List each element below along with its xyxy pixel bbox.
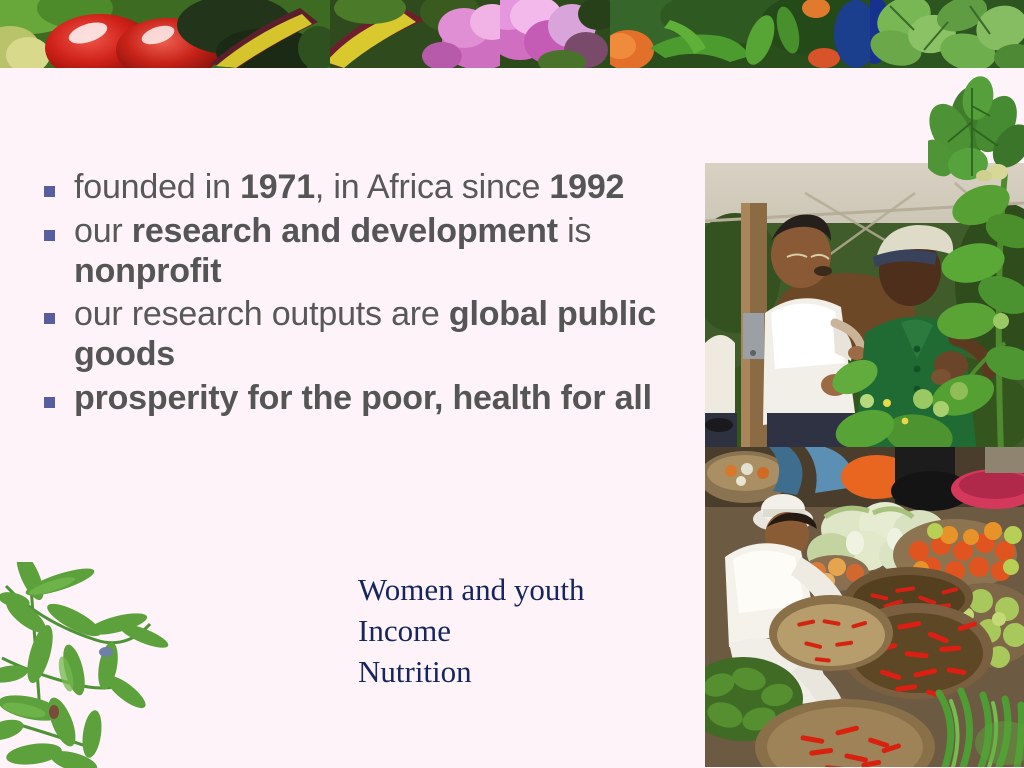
focus-area-line-1: Income: [358, 611, 585, 652]
banner-segment-green-pods: [610, 0, 870, 68]
banner-segment-tomatoes: [0, 0, 330, 68]
slide-canvas: founded in 1971, in Africa since 1992our…: [0, 0, 1024, 768]
focus-areas-list: Women and youthIncomeNutrition: [358, 570, 585, 693]
bullet-research-development: our research and development is nonprofi…: [74, 212, 674, 292]
banner-segment-pink-flowers: [500, 0, 610, 68]
bullet-square-icon: [44, 230, 55, 241]
bullet-founded: founded in 1971, in Africa since 1992: [74, 168, 674, 208]
bullet-item: founded in 1971, in Africa since 1992: [44, 168, 674, 208]
banner-segment-mint-leaves: [870, 0, 1024, 68]
plant-cutout-leafy-stem: [0, 562, 200, 768]
focus-area-line-2: Nutrition: [358, 652, 585, 693]
bullet-item: our research outputs are global public g…: [44, 295, 674, 375]
bullet-item: our research and development is nonprofi…: [44, 212, 674, 292]
bullet-square-icon: [44, 397, 55, 408]
bullet-global-public-goods: our research outputs are global public g…: [74, 295, 674, 375]
photo-vegetable-market: [705, 447, 1024, 767]
top-photo-banner: [0, 0, 1024, 68]
bullet-prosperity-health: prosperity for the poor, health for all: [74, 379, 674, 419]
banner-segment-pod-flowers: [330, 0, 500, 68]
bullet-item: prosperity for the poor, health for all: [44, 379, 674, 419]
photo-greenhouse-tomato-inspection: [705, 163, 1024, 453]
bullet-square-icon: [44, 186, 55, 197]
bullet-list: founded in 1971, in Africa since 1992our…: [44, 168, 674, 423]
focus-area-line-0: Women and youth: [358, 570, 585, 611]
bullet-square-icon: [44, 313, 55, 324]
